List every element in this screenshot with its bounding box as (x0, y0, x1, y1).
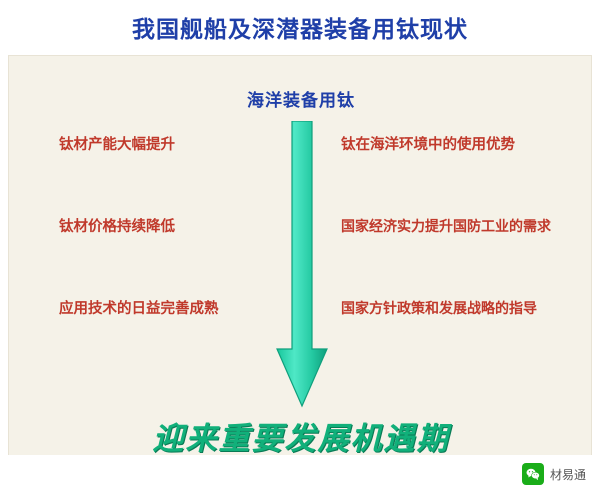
conclusion-text: 迎来重要发展机遇期 (9, 413, 593, 458)
wechat-icon (522, 463, 544, 485)
left-factor-1: 钛材产能大幅提升 (19, 136, 175, 155)
slide-footer: 材易通 (0, 455, 600, 499)
right-factor-2: 国家经济实力提升国防工业的需求 (331, 218, 551, 236)
slide-title-bar: 我国舰船及深潜器装备用钛现状 (0, 0, 600, 54)
diagram-head-label: 海洋装备用钛 (9, 86, 593, 111)
wechat-account-badge: 材易通 (522, 463, 586, 485)
right-factor-1: 钛在海洋环境中的使用优势 (331, 136, 515, 155)
left-factor-3: 应用技术的日益完善成熟 (19, 300, 219, 319)
right-factor-3: 国家方针政策和发展战略的指导 (331, 300, 537, 318)
slide-root: 我国舰船及深潜器装备用钛现状 海洋装备用钛 钛材产能大幅提升 钛材价格持续降低 (0, 0, 600, 499)
diagram-panel: 海洋装备用钛 钛材产能大幅提升 钛材价格持续降低 应用技术的日益完善成熟 (8, 55, 592, 491)
left-factor-2: 钛材价格持续降低 (19, 218, 175, 237)
page-title: 我国舰船及深潜器装备用钛现状 (132, 10, 468, 44)
wechat-account-name: 材易通 (550, 466, 586, 483)
down-arrow-icon (271, 121, 333, 416)
